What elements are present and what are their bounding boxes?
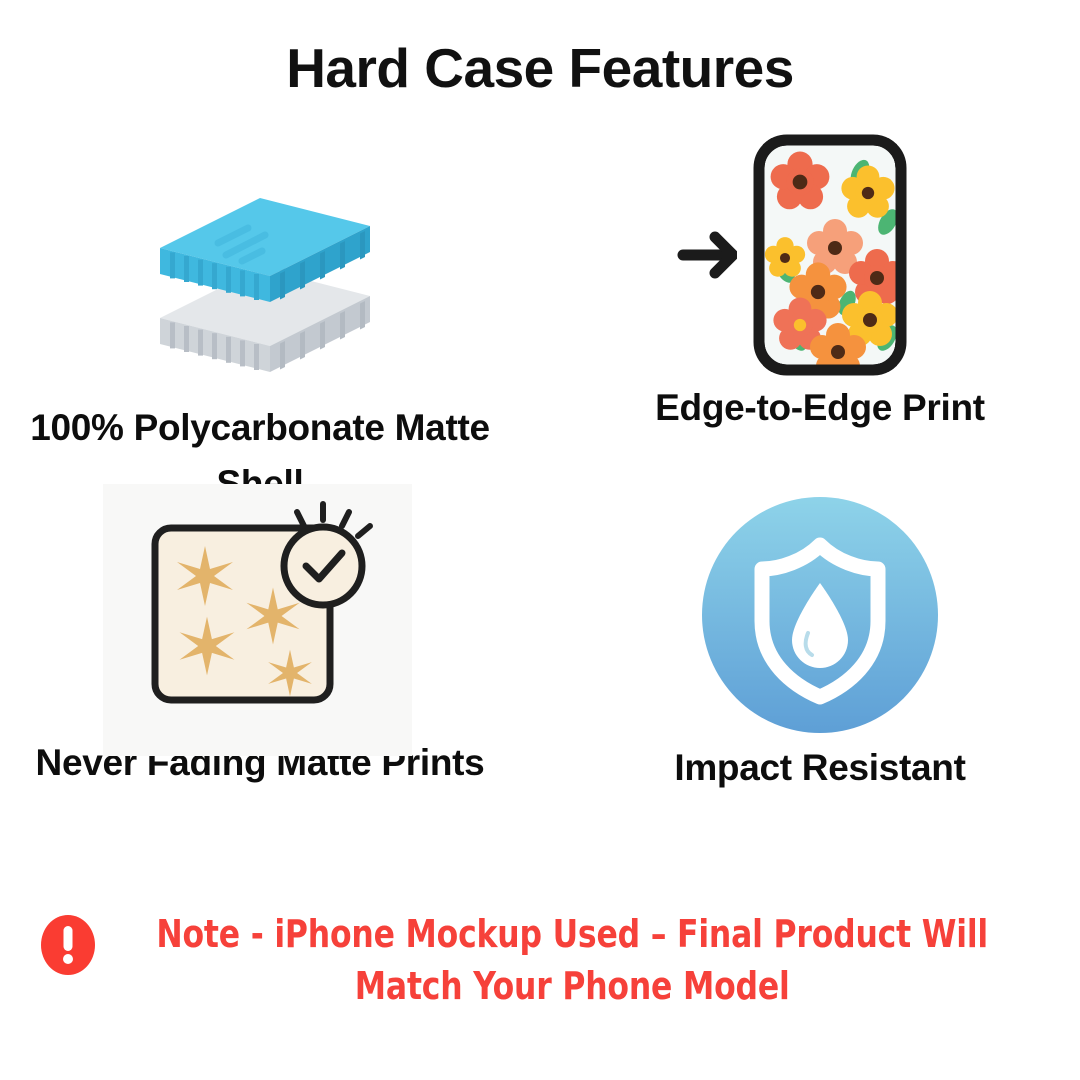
sparkle-swatch-icon-container xyxy=(10,470,510,735)
floral-phone-case-icon xyxy=(675,130,965,380)
feature-polycarbonate-shell: 100% Polycarbonate Matte Shell xyxy=(10,150,510,511)
feature-never-fading-prints: Never Fading Matte Prints xyxy=(10,470,510,791)
layered-material-icon xyxy=(130,170,390,380)
note-text: Note - iPhone Mockup Used – Final Produc… xyxy=(80,908,1000,1013)
layered-material-icon-container xyxy=(10,150,510,400)
page-title: Hard Case Features xyxy=(0,36,1080,100)
shield-droplet-icon xyxy=(700,495,940,735)
arrow-right-icon xyxy=(683,237,733,273)
note-banner: Note - iPhone Mockup Used – Final Produc… xyxy=(0,908,1080,1013)
feature-impact-resistant: Impact Resistant xyxy=(570,490,1070,796)
check-badge xyxy=(284,527,362,605)
shield-droplet-icon-container xyxy=(570,490,1070,740)
feature-caption: Impact Resistant xyxy=(570,740,1070,796)
feature-caption: Edge-to-Edge Print xyxy=(570,380,1070,436)
floral-phone-icon-container xyxy=(570,130,1070,380)
sparkle-swatch-check-icon xyxy=(125,488,395,718)
feature-edge-to-edge-print: Edge-to-Edge Print xyxy=(570,130,1070,436)
